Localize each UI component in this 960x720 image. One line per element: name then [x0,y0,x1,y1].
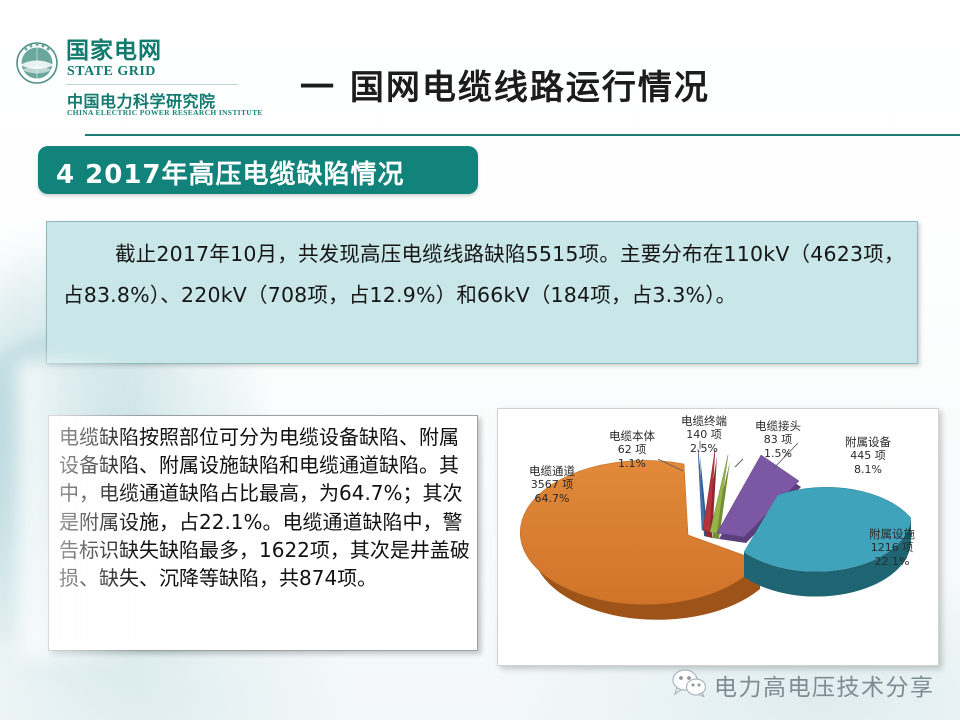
pie-label-value: 445 项 [828,449,908,463]
pie-label-percent: 8.1% [828,463,908,477]
header-divider [85,134,960,136]
logo-company-en: STATE GRID [67,64,156,80]
pie-label-name: 电缆本体 [594,429,670,443]
pie-label-name: 电缆接头 [740,419,816,433]
pie-label-name: 电缆终端 [666,414,742,428]
pie-label-percent: 22.1% [850,555,934,569]
watermark: 电力高电压技术分享 [672,668,935,702]
pie-label-accessory-facility: 附属设施 1216 项 22.1% [850,527,934,569]
state-grid-globe-icon [14,40,60,86]
logo-institute-en: CHINA ELECTRIC POWER RESEARCH INSTITUTE [67,108,263,117]
analysis-text: 电缆缺陷按照部位可分为电缆设备缺陷、附属设备缺陷、附属设施缺陷和电缆通道缺陷。其… [59,423,471,592]
pie-label-value: 1216 项 [850,541,934,555]
pie-label-value: 140 项 [666,428,742,442]
summary-text: 截止2017年10月，共发现高压电缆线路缺陷5515项。主要分布在110kV（4… [63,234,905,316]
logo-divider [66,84,238,85]
pie-label-value: 83 项 [740,433,816,447]
wechat-icon [672,669,706,702]
pie-label-value: 3567 项 [500,478,604,492]
pie-label-percent: 1.5% [740,447,816,461]
pie-label-name: 附属设备 [828,435,908,449]
pie-label-cable-joint: 电缆接头 83 项 1.5% [740,419,816,461]
defect-distribution-chart-panel: 电缆通道 3567 项 64.7% 电缆本体 62 项 1.1% 电缆终端 14… [497,408,939,666]
slide-canvas: 国家电网 STATE GRID 中国电力科学研究院 CHINA ELECTRIC… [0,0,960,720]
pie-label-cable-channel: 电缆通道 3567 项 64.7% [500,464,604,506]
state-grid-logo: 国家电网 STATE GRID 中国电力科学研究院 CHINA ELECTRIC… [14,38,244,118]
pie-label-cable-body: 电缆本体 62 项 1.1% [594,429,670,471]
watermark-text: 电力高电压技术分享 [714,668,935,702]
pie-label-name: 电缆通道 [500,464,604,478]
pie-label-percent: 1.1% [594,457,670,471]
section-banner-label: 4 2017年高压电缆缺陷情况 [56,154,405,191]
logo-company-cn: 国家电网 [66,40,162,63]
pie-label-value: 62 项 [594,443,670,457]
pie-label-percent: 64.7% [500,492,604,506]
analysis-box: 电缆缺陷按照部位可分为电缆设备缺陷、附属设备缺陷、附属设施缺陷和电缆通道缺陷。其… [48,415,478,651]
summary-box: 截止2017年10月，共发现高压电缆线路缺陷5515项。主要分布在110kV（4… [46,221,918,364]
section-banner: 4 2017年高压电缆缺陷情况 [38,146,478,194]
page-title: 一 国网电缆线路运行情况 [300,60,920,109]
pie-label-name: 附属设施 [850,527,934,541]
pie-label-percent: 2.5% [666,442,742,456]
pie-label-cable-terminal: 电缆终端 140 项 2.5% [666,414,742,456]
pie-label-accessory-equipment: 附属设备 445 项 8.1% [828,435,908,477]
